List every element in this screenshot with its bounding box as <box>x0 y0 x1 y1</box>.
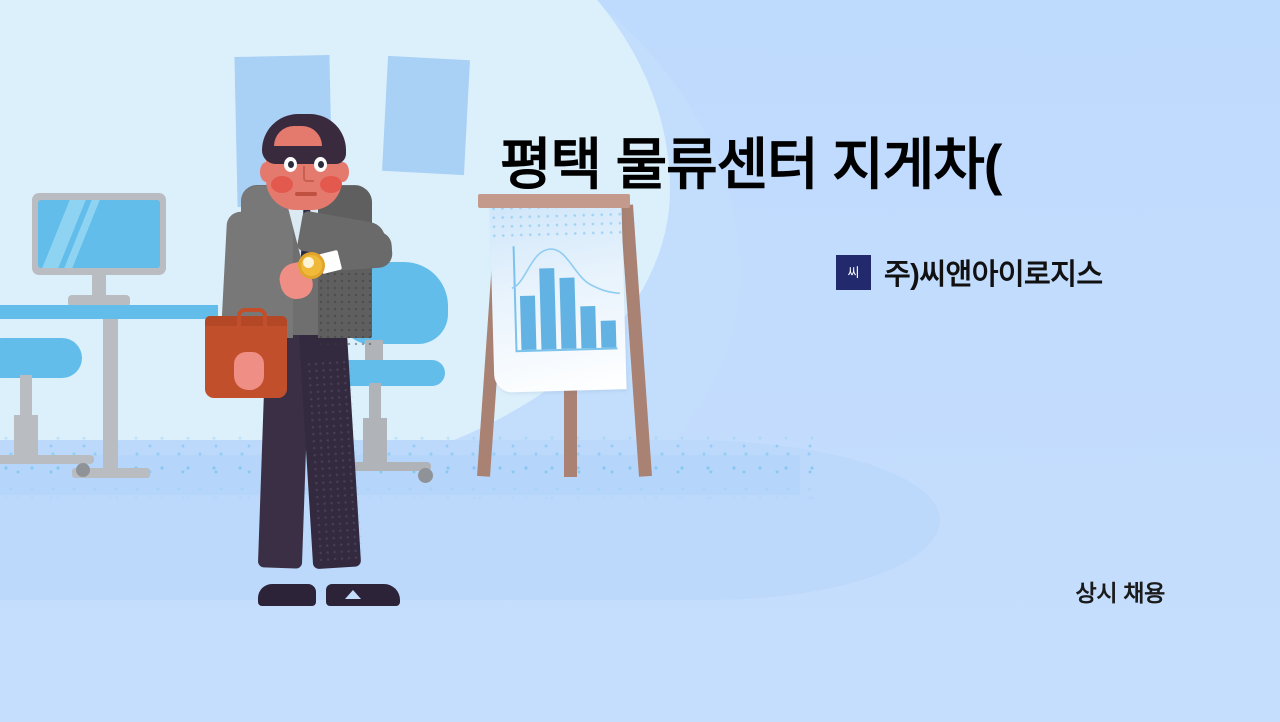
office-chair-right-post <box>369 383 381 423</box>
office-chair-left-post <box>20 375 32 420</box>
mouth <box>295 192 317 196</box>
desk-top <box>0 305 218 319</box>
pupil-right <box>318 161 324 168</box>
desk-leg <box>103 319 118 473</box>
eyebrow-right <box>313 150 328 154</box>
eyebrow-left <box>283 150 298 154</box>
flip-chart-paper <box>489 201 626 393</box>
office-chair-right-wheel <box>418 468 433 483</box>
recruitment-banner: 평택 물류센터 지게차( 씨 주)씨앤아이로지스 상시 채용 <box>0 0 1280 722</box>
cheek-right <box>320 176 342 193</box>
chart-bar <box>601 320 617 347</box>
company-name: 주)씨앤아이로지스 <box>884 251 1103 293</box>
company-logo-badge: 씨 <box>836 255 871 290</box>
monitor-screen <box>38 200 160 268</box>
shoe-right <box>326 584 400 606</box>
nose <box>303 166 314 182</box>
briefcase-handle <box>237 308 267 326</box>
office-chair-left-wheel <box>76 463 90 477</box>
pupil-left <box>288 161 294 168</box>
company-row: 씨 주)씨앤아이로지스 <box>836 251 1103 293</box>
office-chair-right-cylinder <box>363 418 387 466</box>
chart-trend-curve <box>510 239 620 320</box>
office-chair-left-back <box>0 338 82 378</box>
hand-left <box>234 352 264 390</box>
shoe-left <box>258 584 316 606</box>
office-chair-left-cylinder <box>14 415 38 460</box>
wristwatch-face <box>303 257 314 268</box>
job-title: 평택 물류센터 지게차( <box>500 133 1001 197</box>
status-badge: 상시 채용 <box>1075 574 1165 608</box>
wall-poster-2 <box>382 56 470 175</box>
cheek-left <box>271 176 293 193</box>
